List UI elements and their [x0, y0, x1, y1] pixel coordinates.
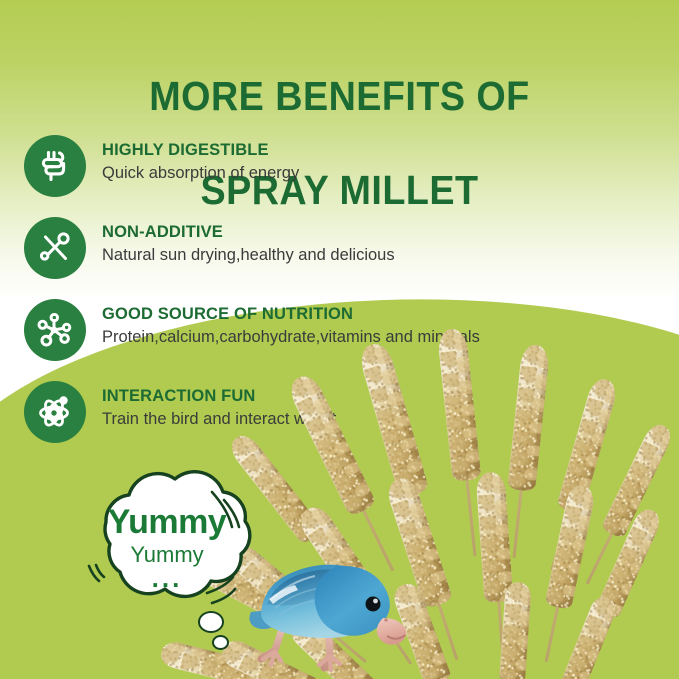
- atom-icon: [24, 381, 86, 443]
- benefit-description: Natural sun drying,healthy and delicious: [102, 244, 395, 267]
- molecule-icon: [24, 299, 86, 361]
- no-additive-dropper-icon: [24, 217, 86, 279]
- bird-eye: [366, 597, 381, 612]
- thought-bubble-dots: ...: [72, 568, 262, 588]
- blue-parrotlet-bird: [245, 556, 445, 679]
- thought-bubble-primary-text: Yummy: [72, 504, 262, 540]
- benefit-row-non-additive: NON-ADDITIVE Natural sun drying,healthy …: [0, 215, 679, 297]
- bird-beak: [377, 618, 406, 645]
- thought-bubble-trail-small: [212, 635, 229, 650]
- benefit-description: Quick absorption of energy: [102, 162, 299, 185]
- benefit-text-block: NON-ADDITIVE Natural sun drying,healthy …: [102, 215, 395, 267]
- infographic-canvas: MORE BENEFITS OF SPRAY MILLET: [0, 0, 679, 679]
- benefit-row-highly-digestible: HIGHLY DIGESTIBLE Quick absorption of en…: [0, 133, 679, 215]
- benefit-heading: NON-ADDITIVE: [102, 222, 395, 242]
- intestine-icon: [24, 135, 86, 197]
- page-title-line-1: MORE BENEFITS OF: [27, 73, 652, 120]
- benefit-heading: HIGHLY DIGESTIBLE: [102, 140, 299, 160]
- thought-bubble-trail-large: [198, 611, 224, 633]
- benefit-text-block: HIGHLY DIGESTIBLE Quick absorption of en…: [102, 133, 299, 185]
